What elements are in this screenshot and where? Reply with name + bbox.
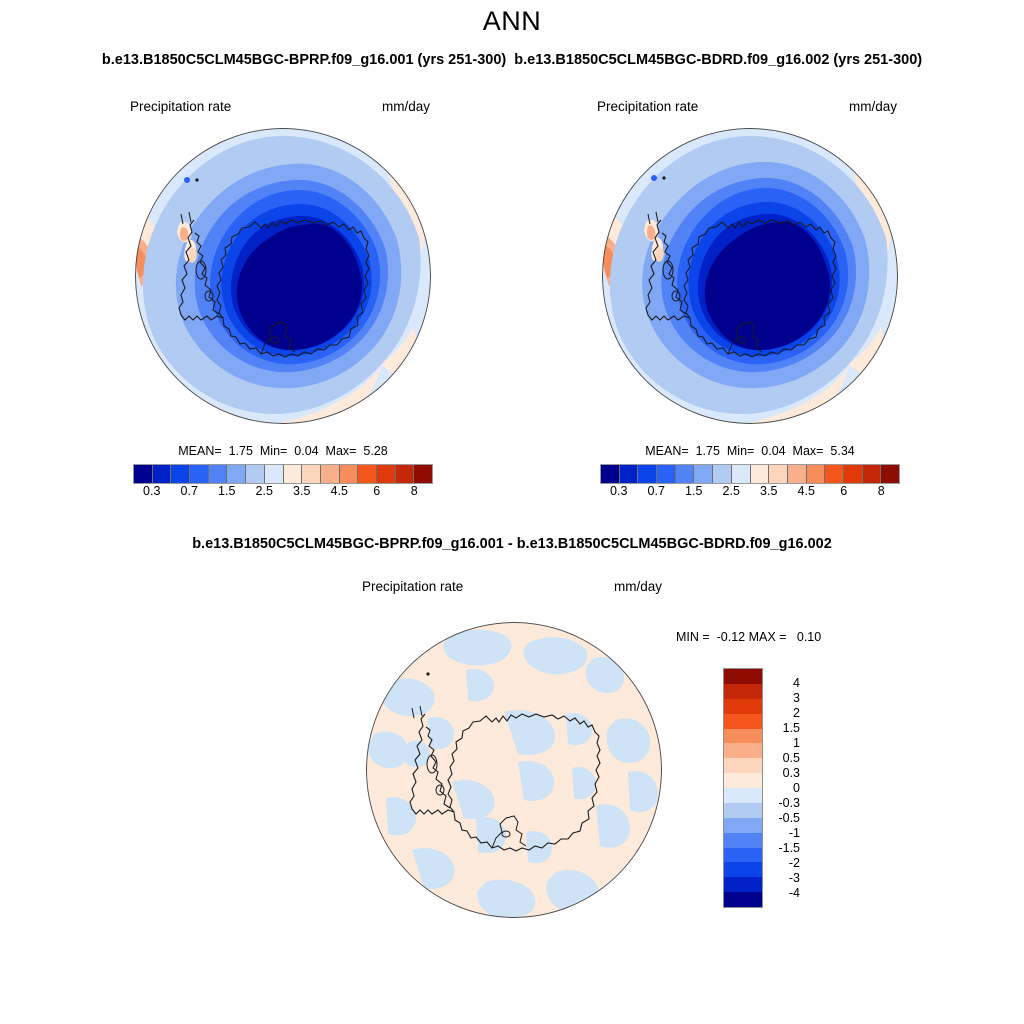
right-colorbar-swatches[interactable]	[600, 464, 900, 484]
colorbar-tick-label: 2.5	[256, 484, 273, 498]
diff-colorbar-tick-label: 2	[793, 706, 800, 720]
colorbar-tick-label: 3.5	[760, 484, 777, 498]
diff-colorbar-tick-label: 1.5	[783, 721, 800, 735]
diff-colorbar-swatch-13	[724, 862, 762, 877]
right-variable-label: Precipitation rate	[597, 99, 698, 114]
left-colorbar[interactable]: 0.30.71.52.53.54.568	[133, 464, 433, 502]
diff-colorbar-swatch-2	[724, 699, 762, 714]
colorbar-swatch-15	[414, 465, 432, 483]
diff-colorbar-swatch-1	[724, 684, 762, 699]
diff-colorbar-labels: 4321.510.50.30-0.3-0.5-1-1.5-2-3-4	[766, 668, 800, 908]
colorbar-swatch-14	[863, 465, 882, 483]
colorbar-swatch-8	[284, 465, 303, 483]
colorbar-swatch-4	[209, 465, 228, 483]
left-panel-header: Precipitation rate mm/day	[130, 99, 430, 117]
colorbar-swatch-3	[190, 465, 209, 483]
right-panel-stats: MEAN= 1.75 Min= 0.04 Max= 5.34	[600, 444, 900, 458]
diff-colorbar-swatch-3	[724, 714, 762, 729]
colorbar-tick-label: 1.5	[685, 484, 702, 498]
colorbar-tick-label: 0.3	[143, 484, 160, 498]
colorbar-swatch-2	[171, 465, 190, 483]
diff-panel-header: Precipitation rate mm/day	[362, 579, 662, 597]
diff-colorbar-swatch-9	[724, 803, 762, 818]
colorbar-tick-label: 4.5	[798, 484, 815, 498]
diff-colorbar-swatch-5	[724, 743, 762, 758]
diff-colorbar-swatch-4	[724, 729, 762, 744]
colorbar-tick-label: 6	[373, 484, 380, 498]
left-variable-label: Precipitation rate	[130, 99, 231, 114]
diff-colorbar-swatch-12	[724, 848, 762, 863]
colorbar-swatch-13	[377, 465, 396, 483]
diff-colorbar-tick-label: 0.5	[783, 751, 800, 765]
right-colorbar[interactable]: 0.30.71.52.53.54.568	[600, 464, 900, 502]
diff-colorbar[interactable]	[723, 668, 763, 908]
colorbar-swatch-4	[676, 465, 695, 483]
right-map-antarctica	[602, 128, 898, 424]
colorbar-tick-label: 3.5	[293, 484, 310, 498]
colorbar-swatch-0	[601, 465, 620, 483]
colorbar-swatch-10	[321, 465, 340, 483]
diff-colorbar-swatch-6	[724, 758, 762, 773]
case-title-right: b.e13.B1850C5CLM45BGC-BDRD.f09_g16.002 (…	[514, 52, 922, 68]
diff-variable-label: Precipitation rate	[362, 579, 463, 594]
colorbar-tick-label: 4.5	[331, 484, 348, 498]
diff-colorbar-swatch-10	[724, 818, 762, 833]
colorbar-swatch-8	[751, 465, 770, 483]
diff-colorbar-tick-label: -2	[789, 856, 800, 870]
colorbar-swatch-12	[358, 465, 377, 483]
colorbar-swatch-3	[657, 465, 676, 483]
diff-colorbar-tick-label: 0.3	[783, 766, 800, 780]
colorbar-swatch-0	[134, 465, 153, 483]
case-title-left: b.e13.B1850C5CLM45BGC-BPRP.f09_g16.001 (…	[102, 52, 506, 68]
colorbar-tick-label: 6	[840, 484, 847, 498]
diff-colorbar-tick-label: -0.5	[778, 811, 800, 825]
diff-units-label: mm/day	[614, 579, 662, 594]
right-colorbar-labels: 0.30.71.52.53.54.568	[600, 484, 900, 502]
difference-title: b.e13.B1850C5CLM45BGC-BPRP.f09_g16.001 -…	[0, 536, 1024, 552]
colorbar-swatch-1	[620, 465, 639, 483]
diff-colorbar-tick-label: -1	[789, 826, 800, 840]
case-titles-row: b.e13.B1850C5CLM45BGC-BPRP.f09_g16.001 (…	[0, 52, 1024, 68]
colorbar-swatch-9	[302, 465, 321, 483]
colorbar-tick-label: 0.3	[610, 484, 627, 498]
diff-panel-stats: MIN = -0.12 MAX = 0.10	[676, 630, 896, 644]
right-panel-header: Precipitation rate mm/day	[597, 99, 897, 117]
colorbar-tick-label: 1.5	[218, 484, 235, 498]
left-map-svg	[135, 128, 431, 424]
diff-colorbar-swatch-8	[724, 788, 762, 803]
left-colorbar-swatches[interactable]	[133, 464, 433, 484]
colorbar-swatch-7	[265, 465, 284, 483]
diff-colorbar-tick-label: -1.5	[778, 841, 800, 855]
colorbar-swatch-2	[638, 465, 657, 483]
colorbar-swatch-5	[227, 465, 246, 483]
diff-colorbar-swatch-14	[724, 877, 762, 892]
colorbar-tick-label: 0.7	[648, 484, 665, 498]
right-map-svg	[602, 128, 898, 424]
diff-map-antarctica	[366, 622, 662, 918]
colorbar-swatch-14	[396, 465, 415, 483]
colorbar-swatch-13	[844, 465, 863, 483]
colorbar-tick-label: 2.5	[723, 484, 740, 498]
colorbar-swatch-10	[788, 465, 807, 483]
colorbar-tick-label: 0.7	[181, 484, 198, 498]
colorbar-tick-label: 8	[878, 484, 885, 498]
diff-colorbar-tick-label: -4	[789, 886, 800, 900]
colorbar-swatch-1	[153, 465, 172, 483]
diff-map-svg	[366, 622, 662, 918]
diff-colorbar-tick-label: 1	[793, 736, 800, 750]
figure-season-title: ANN	[0, 6, 1024, 37]
diff-colorbar-tick-label: 4	[793, 676, 800, 690]
colorbar-tick-label: 8	[411, 484, 418, 498]
diff-colorbar-swatch-15	[724, 892, 762, 907]
left-map-antarctica	[135, 128, 431, 424]
diff-colorbar-tick-label: -0.3	[778, 796, 800, 810]
colorbar-swatch-5	[694, 465, 713, 483]
diff-colorbar-swatch-11	[724, 833, 762, 848]
right-units-label: mm/day	[849, 99, 897, 114]
diff-colorbar-tick-label: 0	[793, 781, 800, 795]
colorbar-swatch-7	[732, 465, 751, 483]
colorbar-swatch-11	[807, 465, 826, 483]
colorbar-swatch-15	[881, 465, 899, 483]
diff-colorbar-swatch-7	[724, 773, 762, 788]
colorbar-swatch-6	[713, 465, 732, 483]
colorbar-swatch-6	[246, 465, 265, 483]
colorbar-swatch-9	[769, 465, 788, 483]
left-panel-stats: MEAN= 1.75 Min= 0.04 Max= 5.28	[133, 444, 433, 458]
diff-colorbar-swatch-0	[724, 669, 762, 684]
left-colorbar-labels: 0.30.71.52.53.54.568	[133, 484, 433, 502]
colorbar-swatch-11	[340, 465, 359, 483]
colorbar-swatch-12	[825, 465, 844, 483]
left-units-label: mm/day	[382, 99, 430, 114]
diff-colorbar-tick-label: 3	[793, 691, 800, 705]
diff-colorbar-tick-label: -3	[789, 871, 800, 885]
